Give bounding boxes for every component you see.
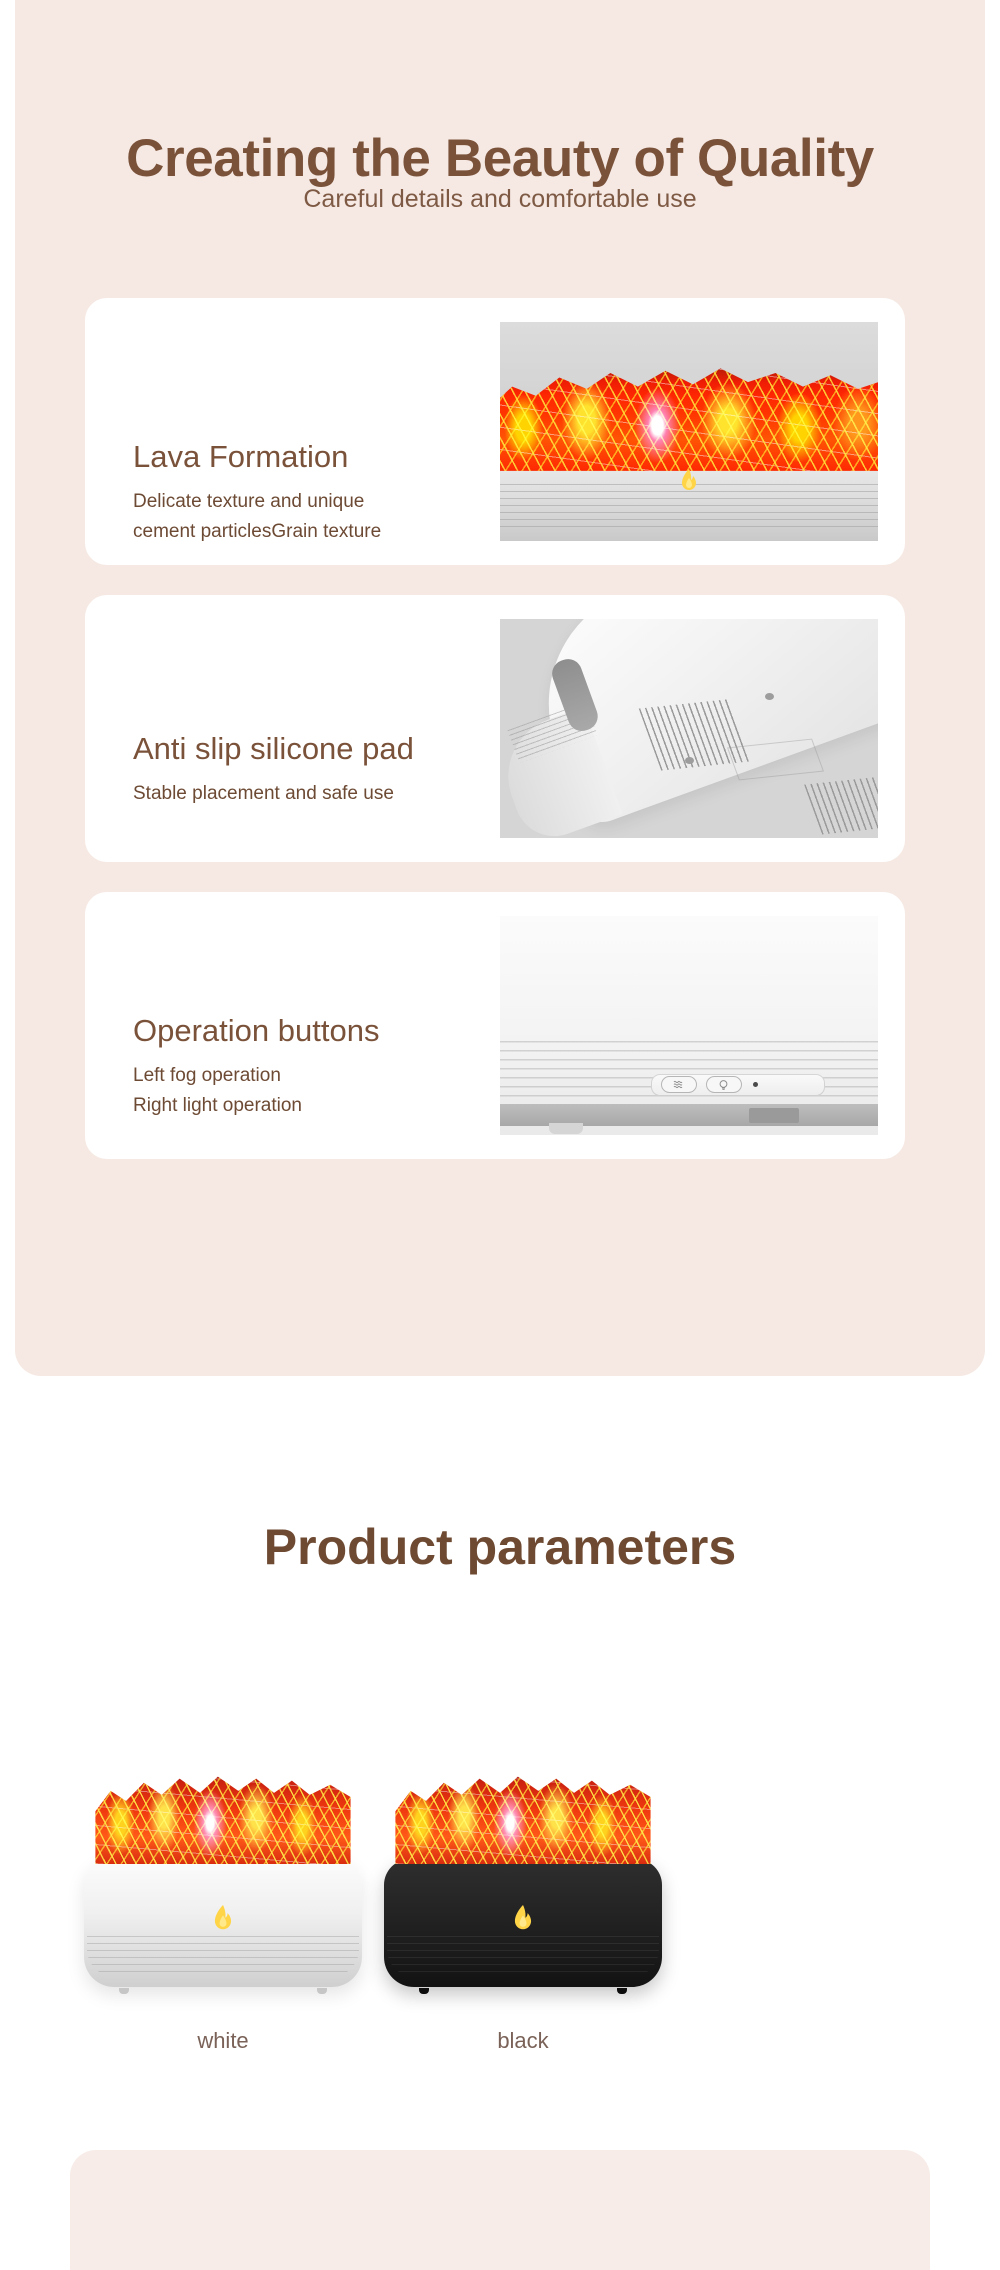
feature-card-title: Operation buttons — [133, 1012, 493, 1049]
silicone-pad-photo — [500, 619, 878, 838]
operation-buttons-art — [500, 916, 878, 1135]
light-bulb-icon — [706, 1076, 742, 1093]
power-port — [749, 1108, 798, 1123]
device-shell-ribs — [387, 1936, 660, 1977]
product-variant-white — [78, 1765, 368, 2020]
feature-card-desc-line1: Left fog operation — [133, 1061, 493, 1090]
vent-grille-secondary — [804, 776, 878, 834]
device-feet — [378, 1982, 668, 1995]
feature-card-lava-formation: Lava Formation Delicate texture and uniq… — [85, 298, 905, 565]
feature-card-desc-line1: Delicate texture and unique — [133, 487, 493, 516]
variant-label-black: black — [378, 2028, 668, 2054]
lava-cracks — [395, 1762, 650, 1864]
operation-buttons-photo — [500, 916, 878, 1135]
page-subtitle: Careful details and comfortable use — [0, 185, 1000, 214]
page-title: Creating the Beauty of Quality — [0, 128, 1000, 189]
feature-card-desc-line1: Stable placement and safe use — [133, 779, 493, 808]
feature-card-operation-buttons: Operation buttons Left fog operation Rig… — [85, 892, 905, 1159]
device-shell-ribs — [87, 1936, 360, 1977]
feature-card-text: Anti slip silicone pad Stable placement … — [133, 730, 493, 809]
feature-card-title: Anti slip silicone pad — [133, 730, 493, 767]
feature-card-text: Operation buttons Left fog operation Rig… — [133, 1012, 493, 1120]
feature-card-desc-line2: Right light operation — [133, 1091, 493, 1120]
feature-card-anti-slip-pad: Anti slip silicone pad Stable placement … — [85, 595, 905, 862]
product-variant-black — [378, 1765, 668, 2020]
device-feet — [78, 1982, 368, 1995]
feature-card-text: Lava Formation Delicate texture and uniq… — [133, 438, 493, 546]
fog-mist-icon — [661, 1076, 697, 1093]
feature-card-desc-line2: cement particlesGrain texture — [133, 517, 493, 546]
lava-cracks — [95, 1762, 350, 1864]
humidifier-device-white — [78, 1747, 368, 2002]
silicone-pad-art — [500, 619, 878, 838]
variant-label-white: white — [78, 2028, 368, 2054]
flame-icon — [679, 469, 699, 499]
feature-card-title: Lava Formation — [133, 438, 493, 475]
humidifier-device-black — [378, 1747, 668, 2002]
device-foot — [549, 1123, 583, 1134]
lava-photo-art — [500, 322, 878, 541]
lava-formation-photo — [500, 322, 878, 541]
flame-icon — [511, 1905, 535, 1941]
next-section-panel — [70, 2150, 930, 2270]
product-parameters-title: Product parameters — [0, 1518, 1000, 1576]
flame-icon — [211, 1905, 235, 1941]
